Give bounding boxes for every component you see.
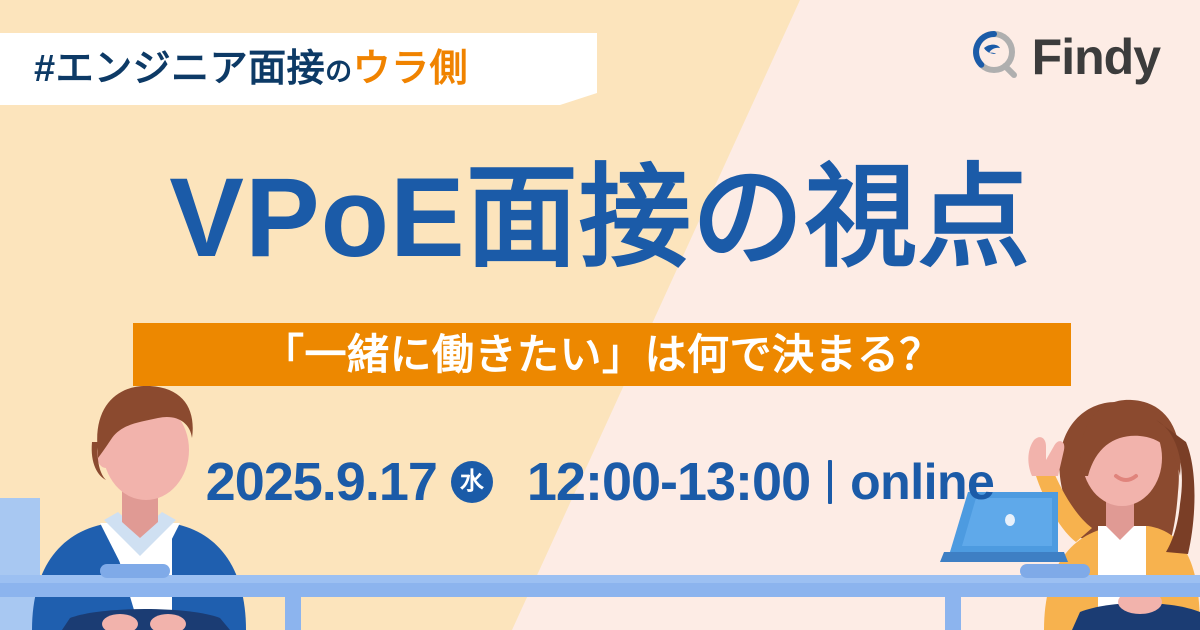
- event-time: 12:00-13:00: [527, 455, 810, 509]
- findy-logo[interactable]: Findy: [968, 28, 1160, 85]
- hashtag-label-no: の: [325, 57, 353, 87]
- findy-wordmark: Findy: [1032, 32, 1160, 82]
- hashtag-label-main: エンジニア面接: [56, 48, 326, 90]
- day-of-week-badge: 水: [451, 461, 493, 503]
- hashtag-label-accent: ウラ側: [353, 48, 469, 90]
- hashtag-ribbon: #エンジニア面接のウラ側: [0, 33, 597, 105]
- page-title: VPoE面接の視点: [0, 155, 1200, 280]
- subtitle-text: 「一緒に働きたい」は何で決まる？: [262, 334, 942, 376]
- hashtag-ribbon-text: #エンジニア面接のウラ側: [34, 50, 468, 88]
- schedule-separator: [828, 460, 832, 504]
- event-date: 2025.9.17: [206, 455, 437, 509]
- subtitle-band: 「一緒に働きたい」は何で決まる？: [133, 323, 1071, 386]
- schedule-row: 2025.9.17 水 12:00-13:00 online: [0, 455, 1200, 509]
- findy-magnifier-logo-icon: [968, 28, 1020, 85]
- event-venue: online: [850, 457, 994, 507]
- event-banner: #エンジニア面接のウラ側 Findy VPoE面接の視点 「一緒に働きたい」は何…: [0, 0, 1200, 630]
- desk-illustration: [0, 540, 1200, 630]
- hashtag-symbol: #: [34, 48, 56, 90]
